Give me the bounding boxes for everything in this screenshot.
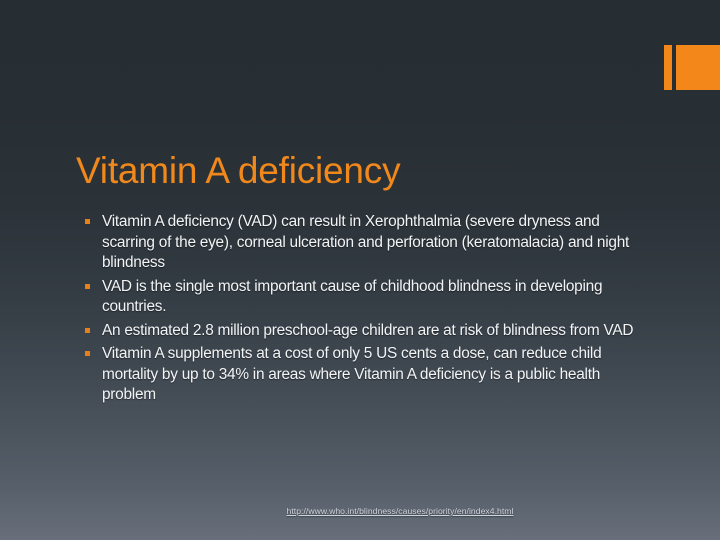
source-url-link[interactable]: http://www.who.int/blindness/causes/prio… (287, 506, 514, 516)
list-item: Vitamin A deficiency (VAD) can result in… (84, 212, 650, 274)
bullet-marker-icon (85, 284, 90, 289)
bullet-list: Vitamin A deficiency (VAD) can result in… (84, 212, 650, 409)
accent-block-icon (676, 45, 720, 90)
slide-title: Vitamin A deficiency (76, 150, 400, 193)
list-item: Vitamin A supplements at a cost of only … (84, 344, 650, 406)
list-item: VAD is the single most important cause o… (84, 277, 650, 318)
list-item-text: Vitamin A supplements at a cost of only … (102, 344, 650, 406)
list-item-text: An estimated 2.8 million preschool-age c… (102, 321, 650, 342)
bullet-marker-icon (85, 328, 90, 333)
list-item-text: Vitamin A deficiency (VAD) can result in… (102, 212, 650, 274)
source-link-container: http://www.who.int/blindness/causes/prio… (0, 501, 720, 519)
list-item: An estimated 2.8 million preschool-age c… (84, 321, 650, 342)
slide-canvas: Vitamin A deficiency Vitamin A deficienc… (0, 0, 720, 540)
bullet-marker-icon (85, 219, 90, 224)
slide-decoration (664, 45, 720, 90)
accent-bar-icon (664, 45, 672, 90)
list-item-text: VAD is the single most important cause o… (102, 277, 650, 318)
bullet-marker-icon (85, 351, 90, 356)
